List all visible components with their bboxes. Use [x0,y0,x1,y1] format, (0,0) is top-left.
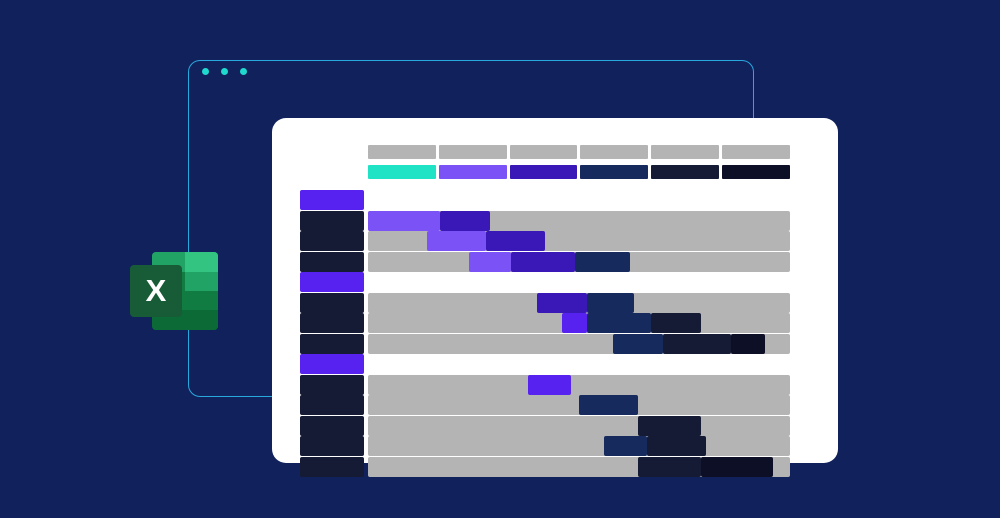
task-row-2-bar-1[interactable] [427,231,486,251]
task-row-4-bar-1[interactable] [537,293,588,313]
task-row-7[interactable] [272,375,838,395]
task-row-9[interactable] [272,416,838,436]
legend-swatch-phase-4[interactable] [580,165,648,179]
task-row-7-track[interactable] [368,375,790,395]
gantt-column-header-6[interactable] [722,145,790,159]
task-row-5-bar-2[interactable] [587,313,650,333]
group-row-3-label[interactable] [300,354,364,374]
window-dot-maximize-icon [240,68,247,75]
task-row-1[interactable] [272,211,838,231]
task-row-11-bar-1[interactable] [638,457,701,477]
task-row-5[interactable] [272,313,838,333]
task-row-4-label[interactable] [300,293,364,313]
task-row-6-track[interactable] [368,334,790,354]
spreadsheet-card [272,118,838,463]
task-row-6-bar-1[interactable] [613,334,664,354]
legend-swatch-phase-3[interactable] [510,165,578,179]
gantt-column-header-5[interactable] [651,145,719,159]
task-row-3-bar-2[interactable] [511,252,574,272]
group-row-1-label[interactable] [300,190,364,210]
gantt-header-placeholder-row [368,145,790,159]
task-row-11[interactable] [272,457,838,477]
legend-swatch-phase-6[interactable] [722,165,790,179]
task-row-6-bar-3[interactable] [731,334,765,354]
task-row-1-bar-2[interactable] [440,211,491,231]
task-row-3[interactable] [272,252,838,272]
task-row-5-track[interactable] [368,313,790,333]
legend-swatch-phase-1[interactable] [368,165,436,179]
task-row-2-track[interactable] [368,231,790,251]
gantt-column-header-3[interactable] [510,145,578,159]
task-row-9-bar-1[interactable] [638,416,701,436]
task-row-6-bar-2[interactable] [663,334,731,354]
group-row-2[interactable] [272,272,838,292]
legend-swatch-phase-5[interactable] [651,165,719,179]
task-row-11-label[interactable] [300,457,364,477]
group-row-3[interactable] [272,354,838,374]
task-row-10-bar-2[interactable] [647,436,706,456]
legend-swatch-phase-2[interactable] [439,165,507,179]
group-row-1[interactable] [272,190,838,210]
task-row-3-bar-3[interactable] [575,252,630,272]
task-row-9-label[interactable] [300,416,364,436]
task-row-7-bar-1[interactable] [528,375,570,395]
task-row-5-label[interactable] [300,313,364,333]
task-row-3-track[interactable] [368,252,790,272]
illustration-canvas: X [0,0,1000,518]
task-row-10[interactable] [272,436,838,456]
task-row-1-label[interactable] [300,211,364,231]
task-row-8[interactable] [272,395,838,415]
task-row-8-label[interactable] [300,395,364,415]
task-row-1-bar-1[interactable] [368,211,440,231]
excel-band-right-mid [185,272,218,291]
window-dot-minimize-icon [221,68,228,75]
task-row-10-track[interactable] [368,436,790,456]
task-row-7-label[interactable] [300,375,364,395]
excel-x-glyph-icon: X [130,265,182,317]
gantt-header-swatch-row [368,165,790,179]
task-row-8-track[interactable] [368,395,790,415]
task-row-4-bar-2[interactable] [587,293,633,313]
window-controls [202,68,247,75]
task-row-4[interactable] [272,293,838,313]
task-row-2[interactable] [272,231,838,251]
task-row-6-label[interactable] [300,334,364,354]
task-row-5-bar-3[interactable] [651,313,702,333]
excel-band-right-top [185,252,218,272]
task-row-6[interactable] [272,334,838,354]
task-row-11-track[interactable] [368,457,790,477]
excel-app-icon: X [130,252,218,330]
task-row-9-track[interactable] [368,416,790,436]
task-row-2-label[interactable] [300,231,364,251]
gantt-chart [272,118,838,463]
window-dot-close-icon [202,68,209,75]
task-row-1-track[interactable] [368,211,790,231]
task-row-8-bar-1[interactable] [579,395,638,415]
task-row-11-bar-2[interactable] [701,457,773,477]
task-row-3-label[interactable] [300,252,364,272]
task-row-2-bar-2[interactable] [486,231,545,251]
gantt-column-header-1[interactable] [368,145,436,159]
task-row-10-bar-1[interactable] [604,436,646,456]
task-row-3-bar-1[interactable] [469,252,511,272]
gantt-column-header-4[interactable] [580,145,648,159]
task-row-10-label[interactable] [300,436,364,456]
gantt-column-header-2[interactable] [439,145,507,159]
task-row-4-track[interactable] [368,293,790,313]
group-row-2-label[interactable] [300,272,364,292]
task-row-5-bar-1[interactable] [562,313,587,333]
